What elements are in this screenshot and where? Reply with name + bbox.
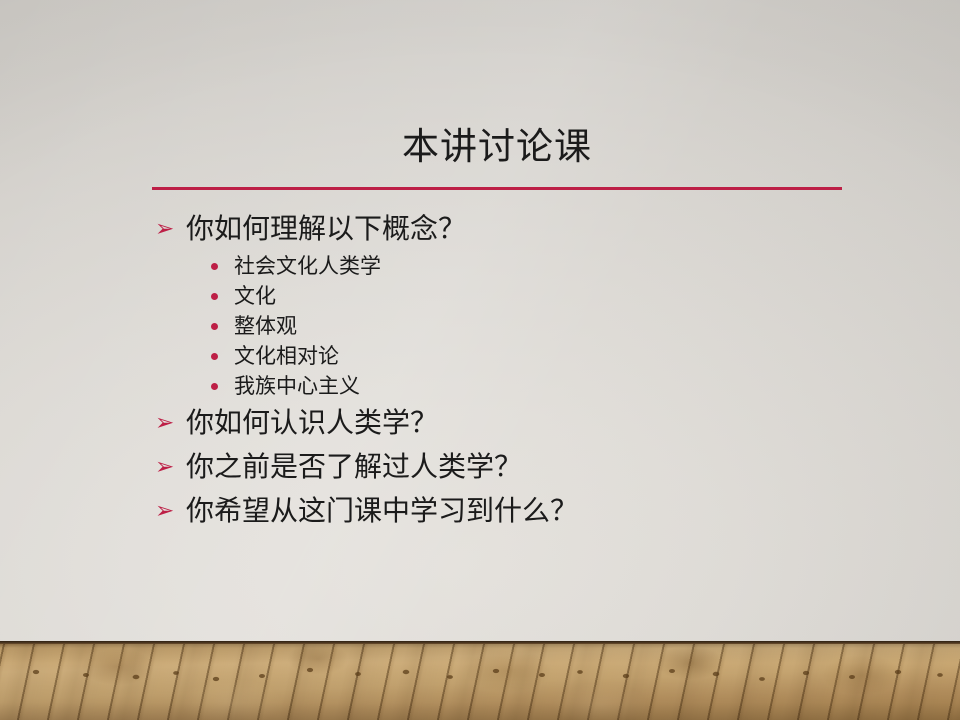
arrow-bullet-icon: ➢: [155, 401, 181, 445]
sub-bullet-list: 社会文化人类学 文化 整体观 文化相对论 我族中心主义: [152, 251, 852, 401]
arrow-bullet-icon: ➢: [155, 207, 181, 251]
sub-bullet-item: 整体观: [152, 311, 852, 341]
bullet-text: 你希望从这门课中学习到什么？: [186, 494, 578, 527]
sub-bullet-item: 文化相对论: [152, 341, 852, 371]
bullet-item: ➢ 你如何理解以下概念？: [152, 207, 852, 251]
dot-bullet-icon: [211, 293, 218, 300]
presentation-slide: 本讲讨论课 ➢ 你如何理解以下概念？ 社会文化人类学 文化 整体观 文化相对论: [0, 0, 960, 720]
sub-bullet-text: 整体观: [234, 314, 297, 338]
sub-bullet-item: 文化: [152, 281, 852, 311]
dot-bullet-icon: [211, 353, 218, 360]
sub-bullet-text: 文化: [234, 284, 276, 308]
floor-wall-junction-line: [0, 641, 960, 644]
wooden-floor-graphic: [0, 641, 960, 720]
sub-bullet-item: 社会文化人类学: [152, 251, 852, 281]
slide-body-content: ➢ 你如何理解以下概念？ 社会文化人类学 文化 整体观 文化相对论 我族: [152, 207, 852, 533]
bullet-item: ➢ 你之前是否了解过人类学？: [152, 445, 852, 489]
floor-knots-svg: [0, 641, 960, 720]
sub-bullet-text: 社会文化人类学: [234, 254, 381, 278]
bullet-text: 你如何理解以下概念？: [186, 212, 466, 245]
dot-bullet-icon: [211, 323, 218, 330]
bullet-item: ➢ 你希望从这门课中学习到什么？: [152, 489, 852, 533]
floor-nail-knots: [0, 641, 960, 720]
sub-bullet-text: 我族中心主义: [234, 374, 360, 398]
slide-title: 本讲讨论课: [152, 124, 842, 170]
dot-bullet-icon: [211, 383, 218, 390]
sub-bullet-text: 文化相对论: [234, 344, 339, 368]
bullet-text: 你如何认识人类学？: [186, 406, 438, 439]
arrow-bullet-icon: ➢: [155, 445, 181, 489]
sub-bullet-item: 我族中心主义: [152, 371, 852, 401]
dot-bullet-icon: [211, 263, 218, 270]
bullet-text: 你之前是否了解过人类学？: [186, 450, 522, 483]
arrow-bullet-icon: ➢: [155, 489, 181, 533]
title-underline-rule: [152, 187, 842, 190]
bullet-item: ➢ 你如何认识人类学？: [152, 401, 852, 445]
